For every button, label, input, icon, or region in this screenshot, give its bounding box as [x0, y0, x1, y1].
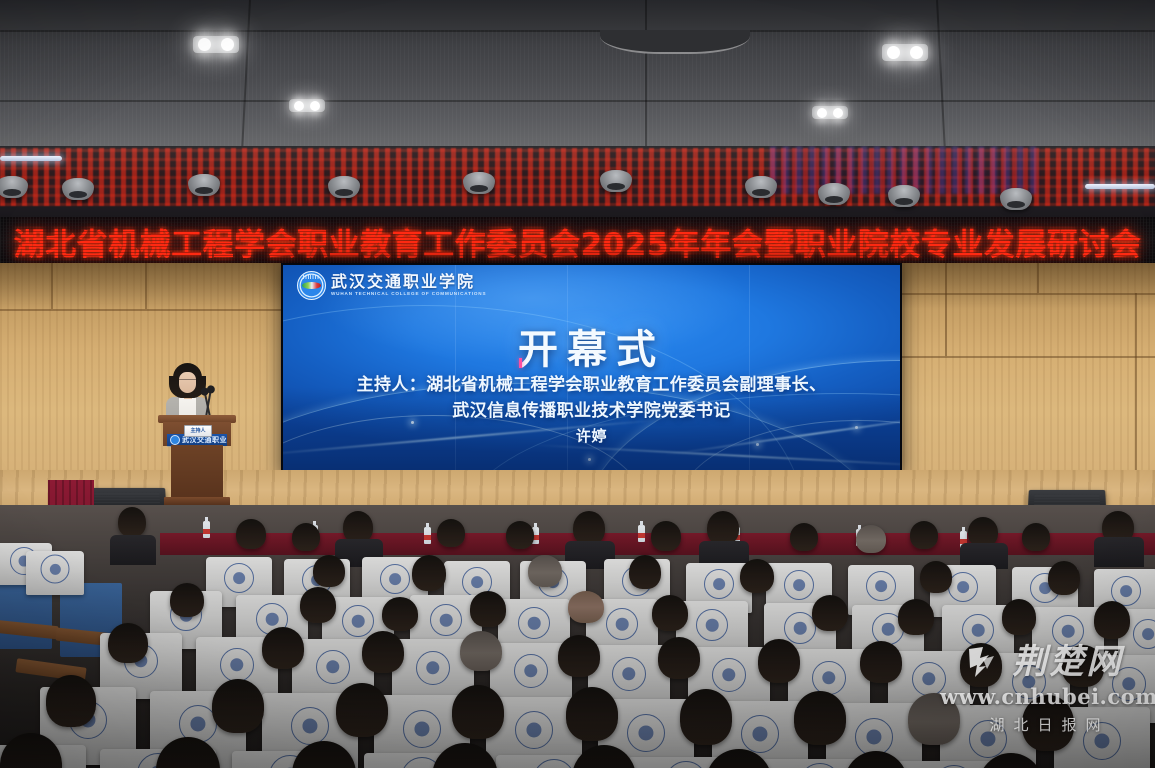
school-emblem-icon	[220, 648, 254, 682]
school-emblem-icon	[627, 714, 665, 752]
school-crest-icon	[170, 435, 180, 445]
audience-head	[212, 679, 264, 733]
audience-head	[236, 519, 266, 549]
school-emblem-icon	[712, 658, 746, 692]
audience-head	[313, 555, 345, 587]
audience-head	[262, 627, 304, 669]
ceiling-tube-light	[0, 156, 62, 161]
audience-head	[652, 595, 688, 631]
slide-text-cursor	[519, 358, 522, 368]
speaker-glasses	[179, 379, 196, 384]
slide-subtitle-line3: 许婷	[283, 425, 900, 448]
ceiling-spotlight	[193, 36, 239, 53]
ceiling-seam	[0, 100, 1155, 102]
audience-head	[292, 523, 320, 551]
water-bottle	[424, 527, 431, 544]
audience-head	[528, 555, 562, 587]
dome-camera-icon	[818, 183, 850, 205]
dome-camera-icon	[745, 176, 777, 198]
dome-camera-icon	[1000, 188, 1032, 210]
water-bottle	[203, 521, 210, 538]
audience-head	[1022, 523, 1050, 551]
audience-head	[790, 523, 818, 551]
audience-head	[300, 587, 336, 623]
audience-head	[898, 599, 934, 635]
slide-subtitle: 主持人：湖北省机械工程学会职业教育工作委员会副理事长、 武汉信息传播职业技术学院…	[283, 373, 900, 447]
seat-cover	[26, 551, 84, 595]
gloss-highlight	[0, 146, 1155, 220]
ceiling-soffit-reflection	[0, 146, 1155, 220]
ceiling-spotlight	[289, 99, 325, 112]
watermark-brand-cn: 荆楚网	[1013, 645, 1124, 679]
wall-seam	[1135, 293, 1137, 483]
wall-seam	[902, 356, 1155, 358]
audience-head	[658, 637, 700, 679]
presentation-slide: 武汉交通职业学院 WUHAN TECHNICAL COLLEGE OF COMM…	[283, 265, 900, 476]
audience-body	[110, 535, 156, 565]
audience-head	[412, 555, 446, 591]
school-emblem-icon	[224, 563, 254, 593]
school-emblem-icon	[799, 763, 841, 768]
audience-head	[573, 511, 605, 545]
podium-body	[171, 445, 223, 498]
school-emblem-icon	[665, 761, 707, 768]
dome-camera-icon	[463, 172, 495, 194]
school-emblem-icon	[533, 759, 575, 768]
audience-head	[170, 583, 204, 617]
ceiling-seam	[645, 0, 647, 152]
school-emblem-icon	[403, 710, 441, 748]
slide-logo-cn: 武汉交通职业学院	[331, 274, 486, 290]
audience-head	[437, 519, 465, 547]
dome-camera-icon	[328, 176, 360, 198]
ceiling-tube-light	[1085, 184, 1155, 189]
watermark-url: www.cnhubei.com	[940, 684, 1150, 709]
lectern-podium: 武汉交通职业学院 主持人	[163, 415, 231, 507]
audience-head	[568, 591, 604, 623]
audience-head	[680, 689, 732, 745]
audience-head	[1048, 561, 1080, 595]
dome-camera-icon	[888, 185, 920, 207]
audience-head	[470, 591, 506, 627]
dome-camera-icon	[188, 174, 220, 196]
school-emblem-icon	[316, 650, 350, 684]
audience-head	[740, 559, 774, 593]
podium-front-panel: 武汉交通职业学院 主持人	[163, 422, 231, 446]
dome-camera-icon	[0, 176, 28, 198]
dome-camera-icon	[600, 170, 632, 192]
slide-logo-en: WUHAN TECHNICAL COLLEGE OF COMMUNICATION…	[331, 292, 486, 297]
school-emblem-icon	[784, 570, 814, 600]
dome-camera-icon	[62, 178, 94, 200]
slide-subtitle-line2: 武汉信息传播职业技术学院党委书记	[283, 399, 900, 425]
ceiling-spotlight	[882, 44, 928, 61]
water-bottle	[638, 525, 645, 542]
school-emblem-icon	[612, 657, 646, 691]
watermark-brand-row: 荆楚网	[940, 645, 1150, 679]
school-crest-icon	[297, 271, 326, 300]
audience-head	[794, 691, 846, 745]
audience-head	[651, 521, 681, 551]
audience-body	[1094, 537, 1144, 567]
school-emblem-icon	[514, 654, 548, 688]
photo-scene: 湖北省机械工程学会职业教育工作委员会2025年年会暨职业院校专业发展研讨会	[0, 0, 1155, 768]
audience-head	[629, 555, 661, 589]
audience-head	[452, 685, 504, 739]
school-emblem-icon	[866, 571, 896, 601]
led-banner: 湖北省机械工程学会职业教育工作委员会2025年年会暨职业院校专业发展研讨会	[0, 217, 1155, 265]
audience-head	[118, 507, 146, 537]
school-emblem-icon	[416, 651, 450, 685]
school-emblem-icon	[41, 555, 70, 584]
audience-head	[1002, 599, 1036, 635]
led-banner-text: 湖北省机械工程学会职业教育工作委员会2025年年会暨职业院校专业发展研讨会	[14, 219, 1142, 264]
host-name-card: 主持人	[184, 425, 212, 437]
audience-head	[860, 641, 902, 683]
audience-head	[1094, 601, 1130, 639]
audience-head	[362, 631, 404, 673]
audience-head	[558, 635, 600, 677]
audience-head	[707, 511, 739, 545]
school-emblem-icon	[812, 661, 846, 695]
projection-screen-frame: 武汉交通职业学院 WUHAN TECHNICAL COLLEGE OF COMM…	[281, 263, 902, 478]
school-emblem-icon	[518, 607, 550, 639]
audience-head	[920, 561, 952, 593]
school-emblem-icon	[606, 608, 638, 640]
slide-title: 开幕式	[283, 317, 900, 375]
school-emblem-icon	[855, 718, 893, 756]
school-emblem-icon	[380, 564, 410, 594]
audience-head	[812, 595, 848, 631]
audience-head	[566, 687, 618, 741]
school-emblem-icon	[741, 715, 779, 753]
watermark: 荆楚网 www.cnhubei.com 湖北日报网	[940, 645, 1150, 750]
audience-head	[758, 639, 800, 683]
watermark-subtitle: 湖北日报网	[940, 714, 1150, 735]
school-emblem-icon	[696, 609, 728, 641]
school-emblem-icon	[342, 605, 374, 637]
audience-head	[46, 675, 96, 727]
school-emblem-icon	[515, 711, 553, 749]
audience-head	[856, 525, 886, 553]
ceiling	[0, 0, 1155, 152]
audience-head	[382, 597, 418, 631]
ceiling-seam	[0, 30, 1155, 32]
slide-logo: 武汉交通职业学院 WUHAN TECHNICAL COLLEGE OF COMM…	[297, 271, 486, 300]
school-emblem-icon	[948, 572, 978, 602]
school-emblem-icon	[430, 604, 462, 636]
school-emblem-icon	[291, 707, 329, 745]
wall-seam	[0, 309, 281, 311]
jingchu-bird-icon	[967, 645, 1007, 679]
audience-head	[336, 683, 388, 737]
slide-logo-text: 武汉交通职业学院 WUHAN TECHNICAL COLLEGE OF COMM…	[331, 274, 486, 297]
school-emblem-icon	[962, 614, 994, 646]
audience-head	[506, 521, 534, 549]
audience-head	[108, 623, 148, 663]
audience-head	[460, 631, 502, 671]
ceiling-texture	[0, 30, 1155, 152]
school-emblem-icon	[704, 569, 734, 599]
slide-subtitle-line1: 主持人：湖北省机械工程学会职业教育工作委员会副理事长、	[283, 373, 900, 399]
audience-head	[910, 521, 938, 549]
ceiling-spotlight	[812, 106, 848, 119]
